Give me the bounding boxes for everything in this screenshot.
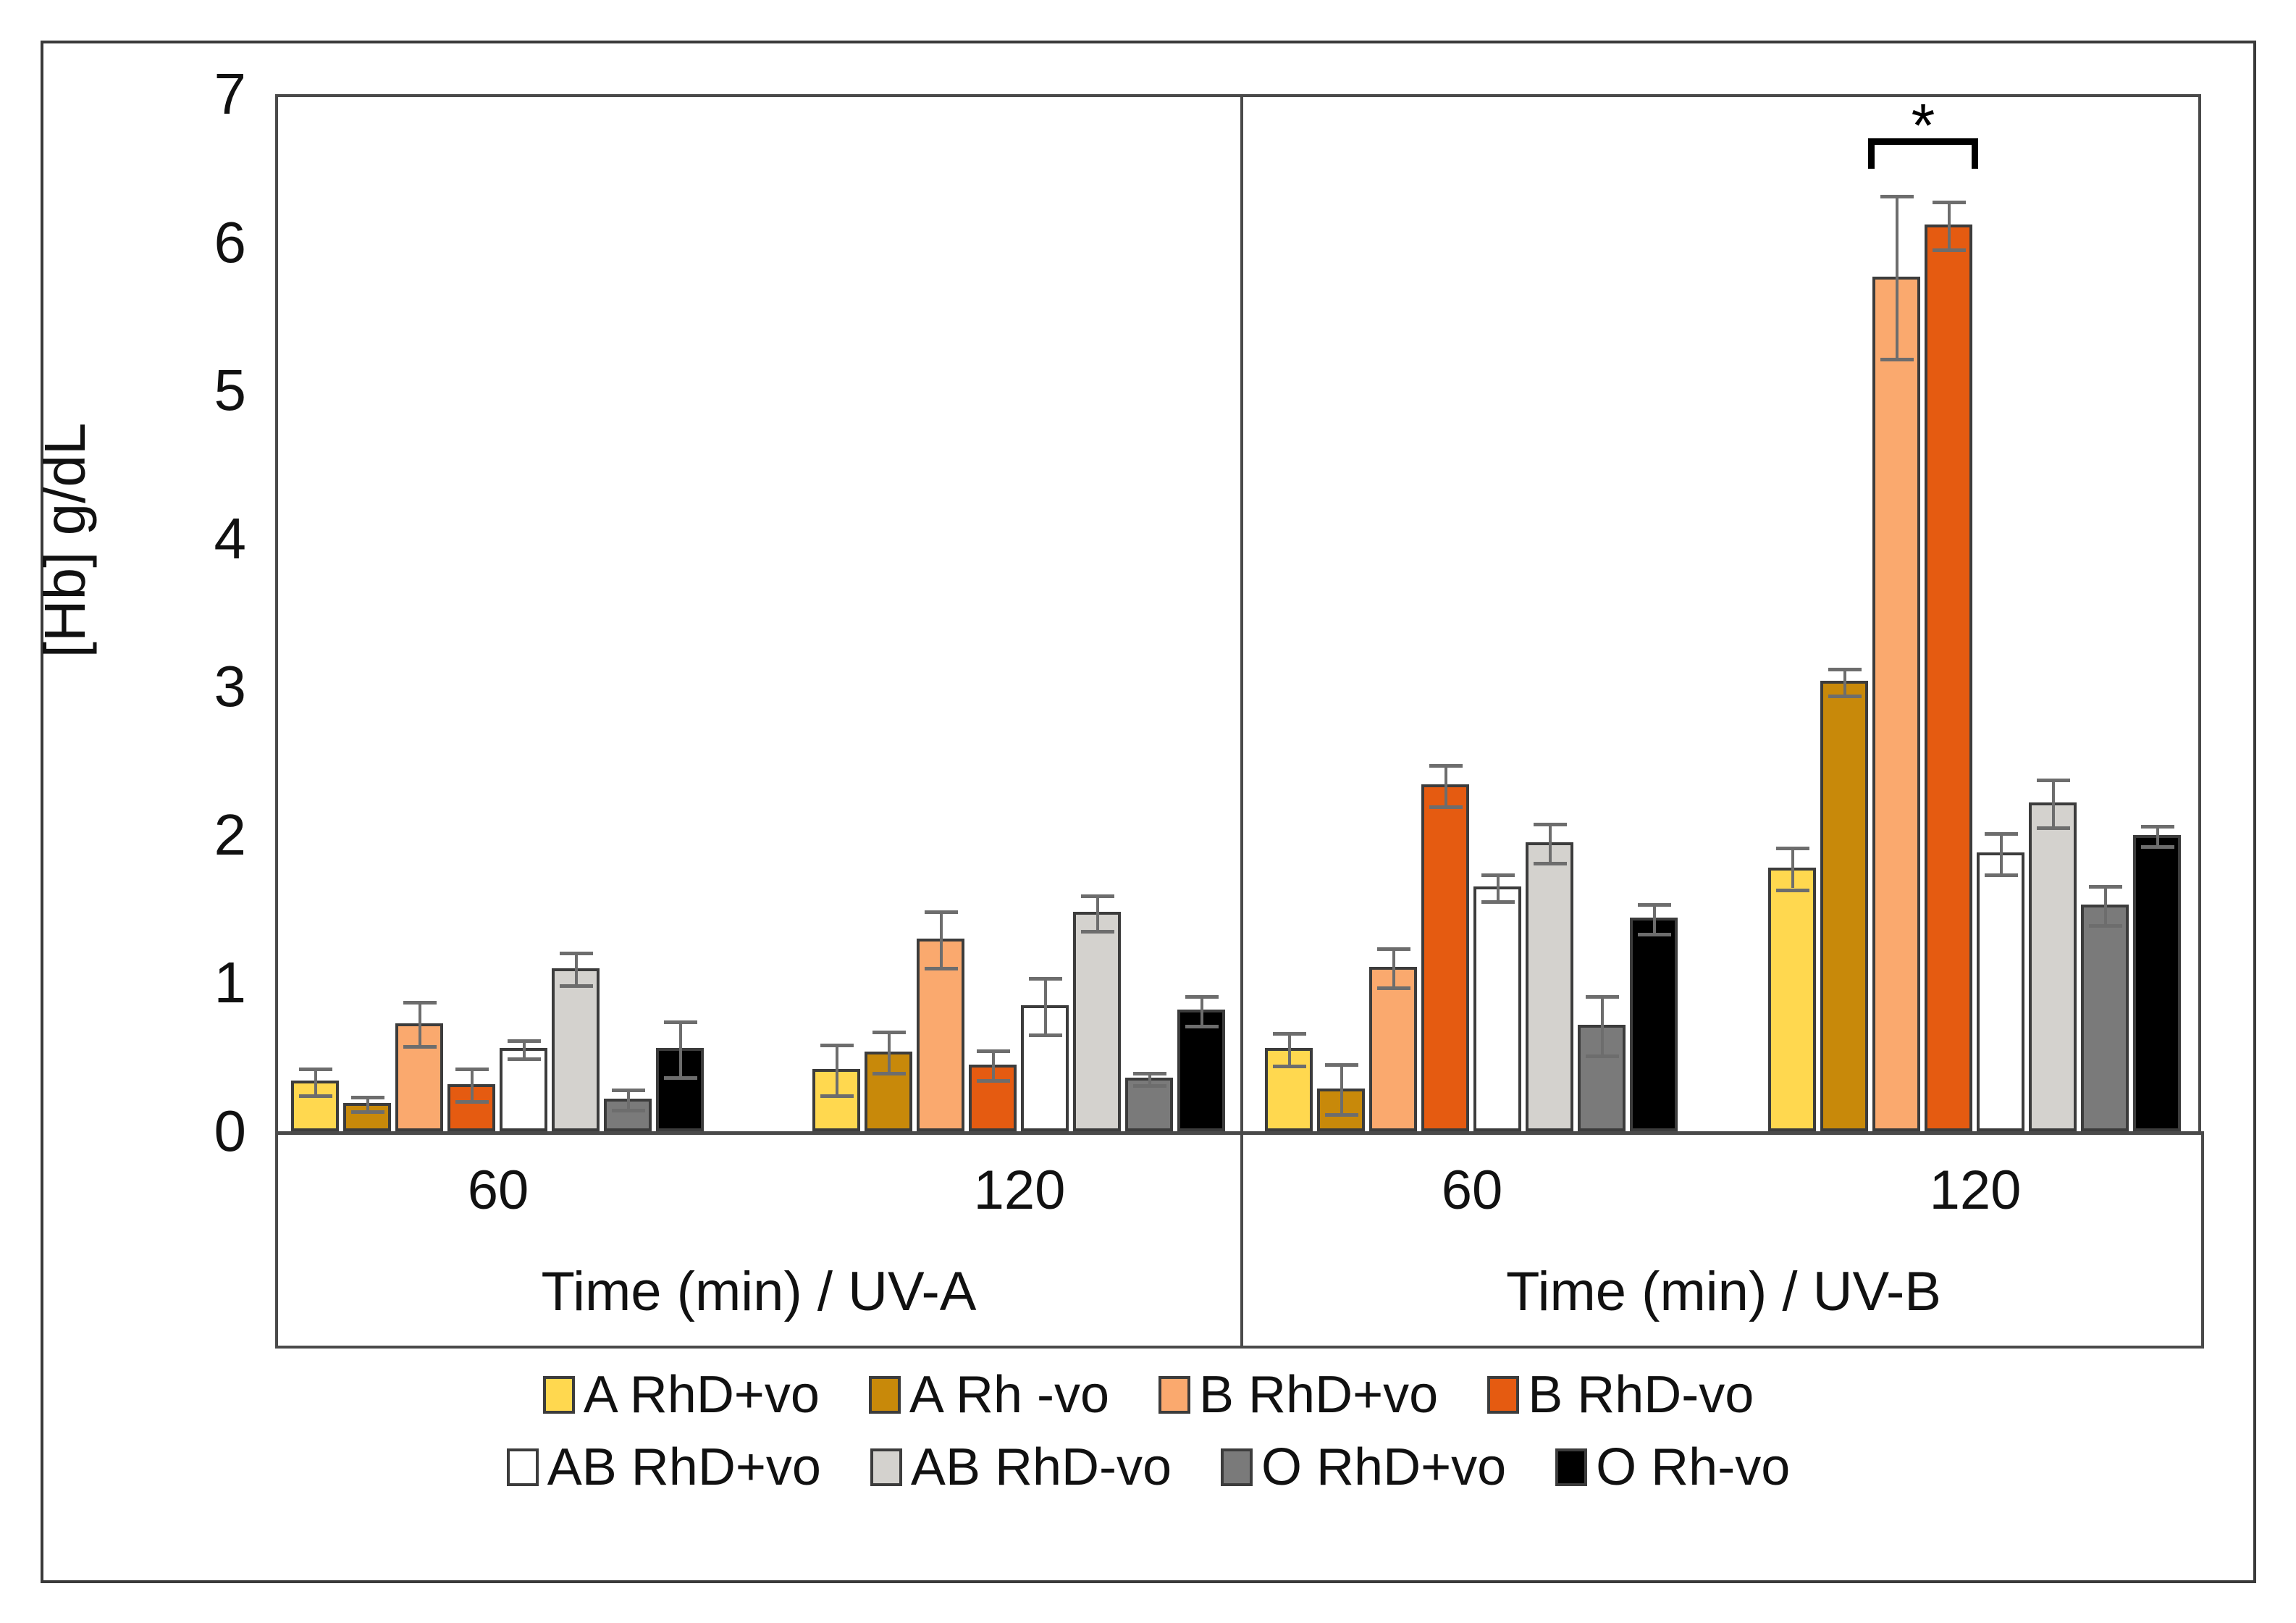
error-bar-cap-top: [1481, 873, 1515, 877]
bracket-top-bar: [1868, 138, 1978, 145]
y-axis-ticks: 01234567: [181, 0, 246, 1231]
error-bar-cap-bottom: [872, 1072, 906, 1075]
error-bar-cap-bottom: [1586, 1054, 1619, 1058]
panel-rail-edge: [2201, 1131, 2204, 1349]
error-bar-cap-top: [872, 1031, 906, 1034]
y-tick-label: 3: [214, 653, 247, 720]
error-bar-cap-top: [403, 1001, 437, 1005]
error-bar-line: [1653, 903, 1656, 933]
bar-slot: [498, 94, 550, 1131]
error-bar-cap-top: [612, 1089, 645, 1092]
x-tick-label: 60: [290, 1159, 707, 1222]
bar-slot: [1019, 94, 1072, 1131]
error-bar-line: [1044, 977, 1047, 1033]
x-tick-label: 120: [1767, 1159, 2184, 1222]
error-bar-line: [992, 1049, 995, 1079]
bar-slot: [446, 94, 498, 1131]
bar-slot: [342, 94, 394, 1131]
bar-slot: [811, 94, 863, 1131]
error-bar-cap-top: [1534, 823, 1567, 826]
error-bar-cap-bottom: [1429, 805, 1463, 809]
error-bar-cap-bottom: [1273, 1065, 1306, 1068]
y-tick-label: 6: [214, 209, 247, 276]
bar[interactable]: [1977, 852, 2024, 1131]
bar-group: [1263, 94, 1681, 1131]
legend-swatch-icon: [1158, 1376, 1190, 1414]
error-bar-line: [314, 1068, 317, 1094]
bar-slot: [2132, 94, 2184, 1131]
error-bar-cap-bottom: [1534, 862, 1567, 865]
error-bar-cap-bottom: [1933, 248, 1966, 252]
error-bar-cap-bottom: [2037, 826, 2070, 830]
error-bar-cap-bottom: [508, 1057, 541, 1061]
bar-slot: [1072, 94, 1124, 1131]
error-bar-cap-bottom: [560, 984, 593, 988]
error-bar-cap-bottom: [925, 967, 958, 970]
legend-item[interactable]: B RhD+vo: [1158, 1369, 1438, 1421]
bracket-left-arm: [1868, 138, 1875, 169]
y-tick-label: 5: [214, 357, 247, 424]
error-bar-cap-top: [977, 1049, 1010, 1053]
y-axis-title: [Hb] g/dL: [32, 309, 98, 772]
error-bar-cap-top: [1933, 201, 1966, 204]
error-bar-cap-bottom: [1325, 1113, 1358, 1117]
panel-baseline-rail: [275, 1346, 1243, 1349]
legend-row: AB RhD+voAB RhD-voO RhD+voO Rh-vo: [41, 1441, 2256, 1493]
error-bar-cap-top: [1985, 832, 2018, 836]
error-bar-cap-bottom: [612, 1109, 645, 1112]
legend-label: B RhD-vo: [1528, 1369, 1754, 1421]
bar-slot: [1767, 94, 1819, 1131]
error-bar-cap-bottom: [299, 1094, 332, 1098]
bar-slot: [1263, 94, 1316, 1131]
bar-group: [1767, 94, 2184, 1131]
bar-slot: [655, 94, 707, 1131]
error-bar-cap-top: [2089, 885, 2122, 889]
error-bar-cap-top: [820, 1044, 854, 1047]
bar-group: [811, 94, 1228, 1131]
bar[interactable]: [1820, 681, 1868, 1131]
legend-swatch-icon: [1221, 1448, 1253, 1486]
error-bar-cap-top: [1776, 847, 1809, 850]
bar-slot: [1124, 94, 1176, 1131]
error-bar-cap-bottom: [1985, 873, 2018, 877]
legend-swatch-icon: [870, 1448, 902, 1486]
error-bar-line: [836, 1044, 838, 1094]
y-tick-label: 1: [214, 949, 247, 1016]
error-bar-cap-bottom: [1133, 1084, 1166, 1088]
legend-item[interactable]: AB RhD+vo: [507, 1441, 821, 1493]
legend-swatch-icon: [1555, 1448, 1587, 1486]
chart-page: 01234567 [Hb] g/dL 60120Time (min) / UV-…: [0, 0, 2296, 1623]
legend-item[interactable]: A RhD+vo: [543, 1369, 820, 1421]
error-bar-cap-top: [455, 1068, 489, 1071]
error-bar-cap-bottom: [2089, 924, 2122, 928]
error-bar-line: [2000, 832, 2003, 873]
error-bar-line: [1843, 668, 1846, 695]
error-bar-line: [1200, 995, 1203, 1025]
y-tick-label: 0: [214, 1098, 247, 1165]
error-bar-line: [575, 952, 578, 984]
bar-slot: [1420, 94, 1472, 1131]
legend-label: O RhD+vo: [1261, 1441, 1506, 1493]
bar-slot: [1871, 94, 1923, 1131]
panel-rail-edge: [275, 1131, 278, 1349]
legend-label: A RhD+vo: [584, 1369, 820, 1421]
bar-slot: [1472, 94, 1524, 1131]
error-bar-cap-top: [1185, 995, 1219, 999]
panel-baseline-rail: [1240, 1346, 2204, 1349]
bar[interactable]: [1872, 277, 1920, 1131]
bar[interactable]: [1421, 784, 1469, 1131]
legend-item[interactable]: O Rh-vo: [1555, 1441, 1790, 1493]
bar[interactable]: [1630, 918, 1678, 1131]
error-bar-cap-bottom: [977, 1079, 1010, 1083]
panel-axis-title: Time (min) / UV-A: [290, 1260, 1228, 1323]
error-bar-line: [1791, 847, 1794, 888]
error-bar-cap-top: [1081, 894, 1114, 898]
legend-swatch-icon: [507, 1448, 539, 1486]
panel-divider: [1240, 94, 1243, 1347]
legend-label: B RhD+vo: [1199, 1369, 1438, 1421]
error-bar-cap-bottom: [1481, 900, 1515, 904]
error-bar-line: [1601, 995, 1604, 1054]
error-bar-cap-top: [1133, 1072, 1166, 1075]
error-bar-line: [1549, 823, 1552, 861]
y-tick-label: 2: [214, 802, 247, 868]
bar[interactable]: [552, 968, 600, 1131]
legend-item[interactable]: O RhD+vo: [1221, 1441, 1506, 1493]
legend-label: AB RhD-vo: [911, 1441, 1172, 1493]
bar-slot: [967, 94, 1019, 1131]
error-bar-cap-bottom: [1638, 933, 1671, 936]
legend-item[interactable]: B RhD-vo: [1487, 1369, 1754, 1421]
error-bar-line: [2104, 885, 2107, 923]
error-bar-cap-bottom: [1828, 695, 1862, 698]
y-tick-label: 7: [214, 61, 247, 127]
error-bar-cap-top: [664, 1020, 697, 1024]
bar-slot: [1628, 94, 1681, 1131]
error-bar-line: [2052, 779, 2055, 826]
error-bar-cap-top: [299, 1068, 332, 1071]
legend-row: A RhD+voA Rh -voB RhD+voB RhD-vo: [41, 1369, 2256, 1421]
error-bar-line: [1392, 947, 1395, 986]
error-bar-line: [1948, 201, 1951, 248]
error-bar-cap-top: [351, 1096, 384, 1099]
bar-slot: [602, 94, 655, 1131]
bar-slot: [1368, 94, 1420, 1131]
x-axis-baseline: [275, 1131, 2204, 1135]
error-bar-cap-bottom: [2141, 845, 2174, 849]
error-bar-line: [1445, 764, 1447, 805]
error-bar-cap-top: [508, 1039, 541, 1043]
error-bar-cap-bottom: [403, 1045, 437, 1049]
error-bar-cap-bottom: [1776, 889, 1809, 892]
error-bar-line: [888, 1031, 891, 1072]
panel-axis-title: Time (min) / UV-B: [1263, 1260, 2184, 1323]
error-bar-cap-top: [1429, 764, 1463, 768]
error-bar-cap-bottom: [1185, 1025, 1219, 1028]
error-bar-cap-top: [1273, 1032, 1306, 1036]
error-bar-line: [940, 910, 943, 967]
bar[interactable]: [1526, 842, 1573, 1131]
legend-swatch-icon: [543, 1376, 575, 1414]
chart-legend: A RhD+voA Rh -voB RhD+voB RhD-voAB RhD+v…: [41, 1369, 2256, 1514]
bar-slot: [550, 94, 602, 1131]
legend-item[interactable]: AB RhD-vo: [870, 1441, 1172, 1493]
bar[interactable]: [1073, 912, 1121, 1131]
error-bar-cap-top: [2141, 825, 2174, 829]
bar-slot: [1923, 94, 1975, 1131]
bar-slot: [1316, 94, 1368, 1131]
error-bar-cap-bottom: [455, 1100, 489, 1104]
bar-slot: [394, 94, 446, 1131]
error-bar-cap-top: [1325, 1063, 1358, 1067]
error-bar-cap-top: [1638, 903, 1671, 907]
bar[interactable]: [2081, 905, 2129, 1131]
legend-swatch-icon: [869, 1376, 901, 1414]
bar-slot: [1176, 94, 1228, 1131]
bar-slot: [1819, 94, 1871, 1131]
error-bar-line: [1340, 1063, 1343, 1114]
error-bar-cap-bottom: [820, 1094, 854, 1098]
bar[interactable]: [1369, 967, 1417, 1131]
x-tick-label: 60: [1263, 1159, 1681, 1222]
legend-label: O Rh-vo: [1596, 1441, 1790, 1493]
bar-slot: [915, 94, 967, 1131]
error-bar-cap-bottom: [1880, 358, 1914, 361]
error-bar-cap-top: [1828, 668, 1862, 671]
error-bar-line: [1288, 1032, 1291, 1065]
significance-bracket: [1868, 138, 1978, 169]
bar-group: [290, 94, 707, 1131]
bar-slot: [290, 94, 342, 1131]
error-bar-cap-top: [2037, 779, 2070, 782]
error-bar-cap-bottom: [1081, 930, 1114, 934]
bar[interactable]: [2133, 835, 2181, 1131]
x-tick-label: 120: [811, 1159, 1228, 1222]
bracket-right-arm: [1972, 138, 1978, 169]
legend-item[interactable]: A Rh -vo: [869, 1369, 1109, 1421]
bar-slot: [2080, 94, 2132, 1131]
bar[interactable]: [2029, 802, 2077, 1131]
bar-slot: [1576, 94, 1628, 1131]
legend-label: AB RhD+vo: [547, 1441, 821, 1493]
error-bar-line: [471, 1068, 474, 1100]
error-bar-cap-top: [1586, 995, 1619, 999]
error-bar-cap-top: [1880, 195, 1914, 198]
error-bar-cap-top: [1029, 977, 1062, 981]
error-bar-cap-bottom: [351, 1110, 384, 1114]
bar[interactable]: [1768, 868, 1816, 1131]
bar-slot: [1975, 94, 2027, 1131]
error-bar-line: [1096, 894, 1099, 930]
error-bar-cap-top: [925, 910, 958, 914]
error-bar-cap-bottom: [664, 1076, 697, 1080]
bar[interactable]: [1473, 886, 1521, 1131]
bar-slot: [863, 94, 915, 1131]
bar[interactable]: [1925, 225, 1972, 1131]
error-bar-cap-bottom: [1377, 986, 1410, 990]
y-tick-label: 4: [214, 506, 247, 572]
error-bar-cap-top: [560, 952, 593, 955]
error-bar-line: [1497, 873, 1500, 900]
error-bar-line: [419, 1001, 421, 1045]
legend-label: A Rh -vo: [909, 1369, 1109, 1421]
bar-slot: [1524, 94, 1576, 1131]
legend-swatch-icon: [1487, 1376, 1519, 1414]
error-bar-cap-bottom: [1029, 1033, 1062, 1037]
error-bar-line: [1896, 195, 1898, 358]
error-bar-cap-top: [1377, 947, 1410, 951]
error-bar-line: [679, 1020, 682, 1077]
bar-slot: [2027, 94, 2080, 1131]
